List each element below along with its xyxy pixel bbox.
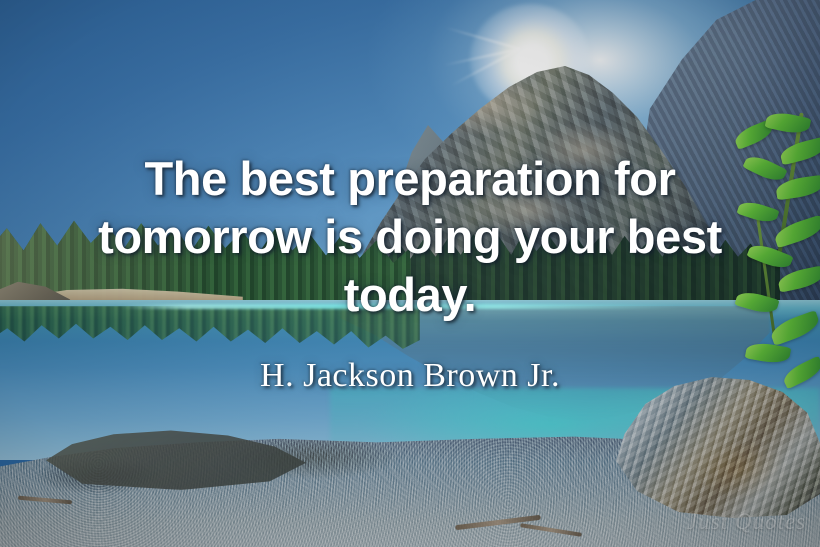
- quote-line-3: today.: [0, 266, 820, 324]
- quote-attribution: H. Jackson Brown Jr.: [0, 356, 820, 396]
- leaf: [765, 110, 812, 137]
- quote-image: The best preparation for tomorrow is doi…: [0, 0, 820, 547]
- quote-line-1: The best preparation for: [0, 150, 820, 208]
- quote-line-2: tomorrow is doing your best: [0, 208, 820, 266]
- quote-text-block: The best preparation for tomorrow is doi…: [0, 150, 820, 324]
